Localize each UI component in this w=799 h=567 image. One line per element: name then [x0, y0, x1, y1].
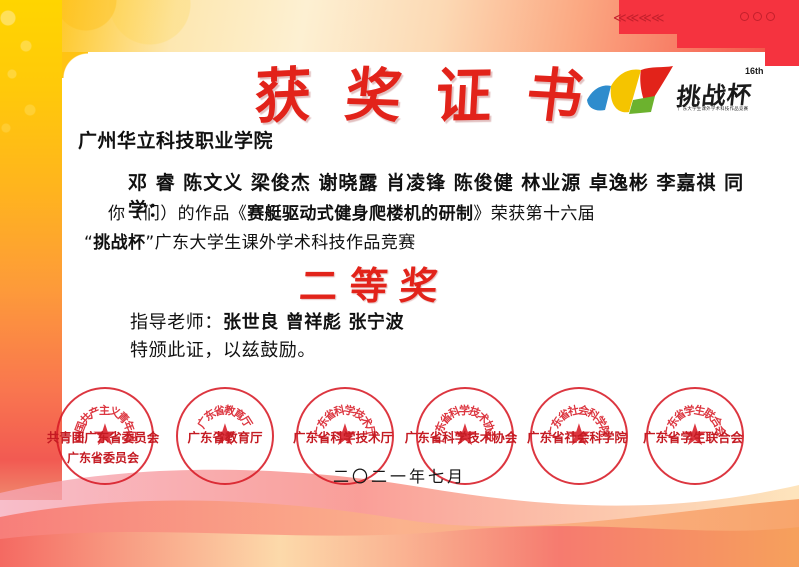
- institution-name: 广州华立科技职业学院: [78, 126, 273, 153]
- advisor-names: 张世良 曾祥彪 张宁波: [223, 312, 404, 333]
- competition-brand: 挑战杯: [93, 233, 145, 253]
- closing-line: 特颁此证，以兹鼓励。: [130, 336, 316, 362]
- title-char-4: 书: [522, 48, 590, 134]
- body-line-1-prefix: 你（们）的作品《: [108, 204, 247, 224]
- body-line-1: 你（们）的作品《赛艇驱动式健身爬楼机的研制》荣获第十六届: [108, 199, 788, 224]
- logo-edition-text: 16th: [745, 66, 764, 76]
- body-line-2-prefix: “: [84, 233, 93, 253]
- body-line-2-suffix: ”广东大学生课外学术科技作品竞赛: [145, 233, 415, 253]
- logo-subtitle-text: 广东大学生课外学术科技作品竞赛: [678, 106, 748, 112]
- certificate-page: ≪≪≪≪: [0, 0, 799, 567]
- advisor-label: 指导老师：: [130, 312, 223, 333]
- title-char-1: 获: [254, 47, 314, 136]
- title-char-2: 奖: [341, 48, 408, 134]
- body-line-1-suffix: 》荣获第十六届: [473, 204, 595, 224]
- certificate-content: 获 奖 证 书 挑战杯 16th 广东大学生课外学术科技作品竞赛 广州华立科技职…: [0, 0, 799, 567]
- body-line-2: “挑战杯”广东大学生课外学术科技作品竞赛: [84, 228, 784, 253]
- project-title: 赛艇驱动式健身爬楼机的研制: [247, 204, 473, 224]
- issue-date: 二〇二一年七月: [0, 463, 799, 487]
- seal-6-label: 广东省学生联合会: [618, 427, 768, 446]
- award-level: 二等奖: [298, 255, 453, 310]
- ribbon-icon: [585, 66, 677, 118]
- challenge-cup-logo: 挑战杯 16th 广东大学生课外学术科技作品竞赛: [585, 62, 785, 124]
- advisor-line: 指导老师：张世良 曾祥彪 张宁波: [130, 308, 404, 334]
- page-title: 获 奖 证 书: [252, 52, 587, 130]
- title-char-3: 证: [434, 47, 497, 135]
